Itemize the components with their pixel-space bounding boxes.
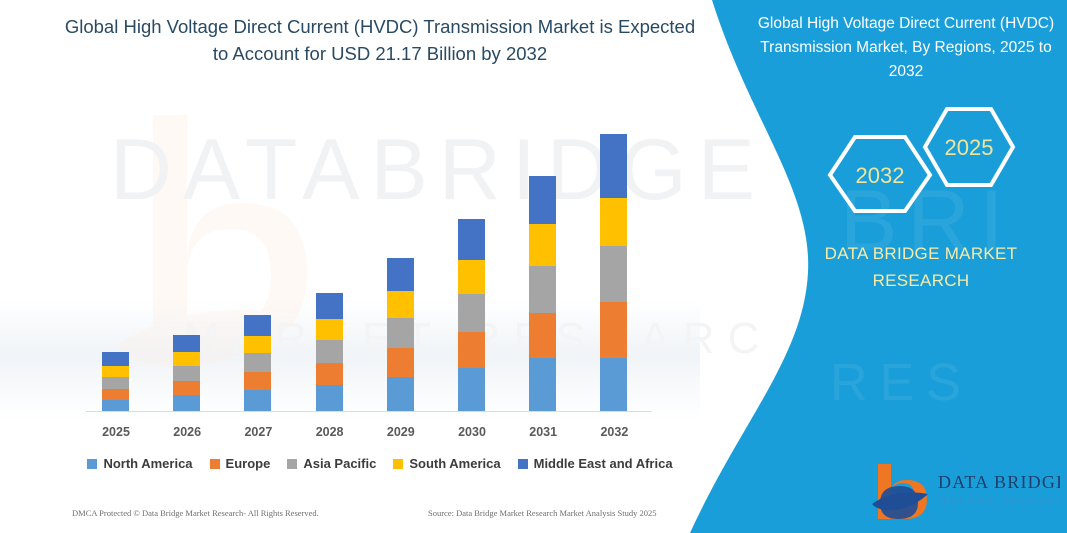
svg-text:MARKET RESEARCH: MARKET RESEARCH xyxy=(938,496,1060,506)
bar-segment xyxy=(244,336,271,353)
bar-segment xyxy=(529,358,556,411)
bar-segment xyxy=(600,198,627,246)
footer: DMCA Protected © Data Bridge Market Rese… xyxy=(0,508,760,528)
svg-text:DATA BRIDGE: DATA BRIDGE xyxy=(938,472,1060,492)
bar-2027 xyxy=(244,315,271,411)
x-axis-label-2027: 2027 xyxy=(228,425,288,439)
bar-segment xyxy=(102,389,129,400)
bar-segment xyxy=(102,352,129,366)
brand-name: DATA BRIDGE MARKET RESEARCH xyxy=(786,240,1056,294)
bar-2026 xyxy=(173,335,200,411)
stacked-bar-chart: 20252026202720282029203020312032 xyxy=(0,0,760,533)
legend-swatch-icon xyxy=(518,459,528,469)
bar-segment xyxy=(102,400,129,411)
x-axis-label-2028: 2028 xyxy=(300,425,360,439)
legend-item[interactable]: Middle East and Africa xyxy=(518,456,673,471)
bar-segment xyxy=(458,219,485,260)
x-axis-line xyxy=(86,411,652,412)
svg-text:2025: 2025 xyxy=(945,135,994,160)
chart-legend: North AmericaEuropeAsia PacificSouth Ame… xyxy=(0,456,760,471)
bar-segment xyxy=(600,302,627,358)
bar-segment xyxy=(173,366,200,381)
bar-segment xyxy=(173,335,200,352)
brand-name-line-1: DATA BRIDGE MARKET xyxy=(786,240,1056,267)
x-axis-label-2025: 2025 xyxy=(86,425,146,439)
hexagon-2032: 2032 xyxy=(830,137,930,211)
x-axis-label-2031: 2031 xyxy=(513,425,573,439)
svg-text:2032: 2032 xyxy=(856,163,905,188)
x-axis-label-2029: 2029 xyxy=(371,425,431,439)
bar-segment xyxy=(387,377,414,411)
bar-segment xyxy=(244,390,271,411)
bar-segment xyxy=(458,368,485,411)
hexagon-2025: 2025 xyxy=(925,109,1013,185)
legend-swatch-icon xyxy=(87,459,97,469)
footer-source: Source: Data Bridge Market Research Mark… xyxy=(428,508,657,518)
legend-label: South America xyxy=(409,456,500,471)
bar-segment xyxy=(244,315,271,336)
brand-panel-content: Global High Voltage Direct Current (HVDC… xyxy=(690,0,1067,533)
bar-segment xyxy=(316,293,343,319)
bar-2030 xyxy=(458,219,485,411)
legend-swatch-icon xyxy=(210,459,220,469)
bar-segment xyxy=(173,352,200,366)
bar-segment xyxy=(458,260,485,294)
bar-2032 xyxy=(600,134,627,411)
legend-label: Asia Pacific xyxy=(303,456,376,471)
footer-copyright: DMCA Protected © Data Bridge Market Rese… xyxy=(72,508,319,518)
x-axis-label-2026: 2026 xyxy=(157,425,217,439)
bar-2025 xyxy=(102,352,129,411)
legend-item[interactable]: South America xyxy=(393,456,500,471)
bar-segment xyxy=(173,381,200,395)
brand-name-line-2: RESEARCH xyxy=(786,267,1056,294)
bar-segment xyxy=(387,348,414,377)
bar-segment xyxy=(600,358,627,411)
bar-segment xyxy=(244,353,271,372)
bar-segment xyxy=(173,395,200,411)
bar-2029 xyxy=(387,258,414,411)
bar-segment xyxy=(529,313,556,358)
legend-label: Middle East and Africa xyxy=(534,456,673,471)
bar-segment xyxy=(316,340,343,363)
brand-panel-title: Global High Voltage Direct Current (HVDC… xyxy=(756,12,1056,84)
logo-mark-icon xyxy=(872,464,928,519)
bar-segment xyxy=(316,319,343,340)
legend-swatch-icon xyxy=(287,459,297,469)
bar-segment xyxy=(102,366,129,377)
legend-item[interactable]: Europe xyxy=(210,456,271,471)
legend-label: North America xyxy=(103,456,192,471)
bar-segment xyxy=(316,363,343,385)
infographic-canvas: DATABRIDGE MARKET RESEARCH Global High V… xyxy=(0,0,1067,533)
bar-segment xyxy=(102,377,129,389)
bar-segment xyxy=(600,246,627,302)
x-axis-label-2032: 2032 xyxy=(584,425,644,439)
bar-segment xyxy=(316,385,343,411)
bar-2031 xyxy=(529,176,556,411)
bar-2028 xyxy=(316,293,343,411)
company-logo: DATA BRIDGE MARKET RESEARCH xyxy=(870,460,1060,520)
legend-item[interactable]: North America xyxy=(87,456,192,471)
legend-swatch-icon xyxy=(393,459,403,469)
legend-label: Europe xyxy=(226,456,271,471)
bar-segment xyxy=(529,224,556,266)
legend-item[interactable]: Asia Pacific xyxy=(287,456,376,471)
chart-panel: DATABRIDGE MARKET RESEARCH Global High V… xyxy=(0,0,760,533)
bar-segment xyxy=(458,332,485,368)
bar-segment xyxy=(387,258,414,291)
x-axis-label-2030: 2030 xyxy=(442,425,502,439)
year-hexagon-group: 2025 2032 xyxy=(795,103,1055,213)
bar-segment xyxy=(600,134,627,198)
bar-segment xyxy=(387,318,414,348)
bar-segment xyxy=(529,266,556,313)
bar-segment xyxy=(458,294,485,332)
bar-segment xyxy=(244,372,271,390)
bar-segment xyxy=(387,291,414,318)
bar-segment xyxy=(529,176,556,224)
